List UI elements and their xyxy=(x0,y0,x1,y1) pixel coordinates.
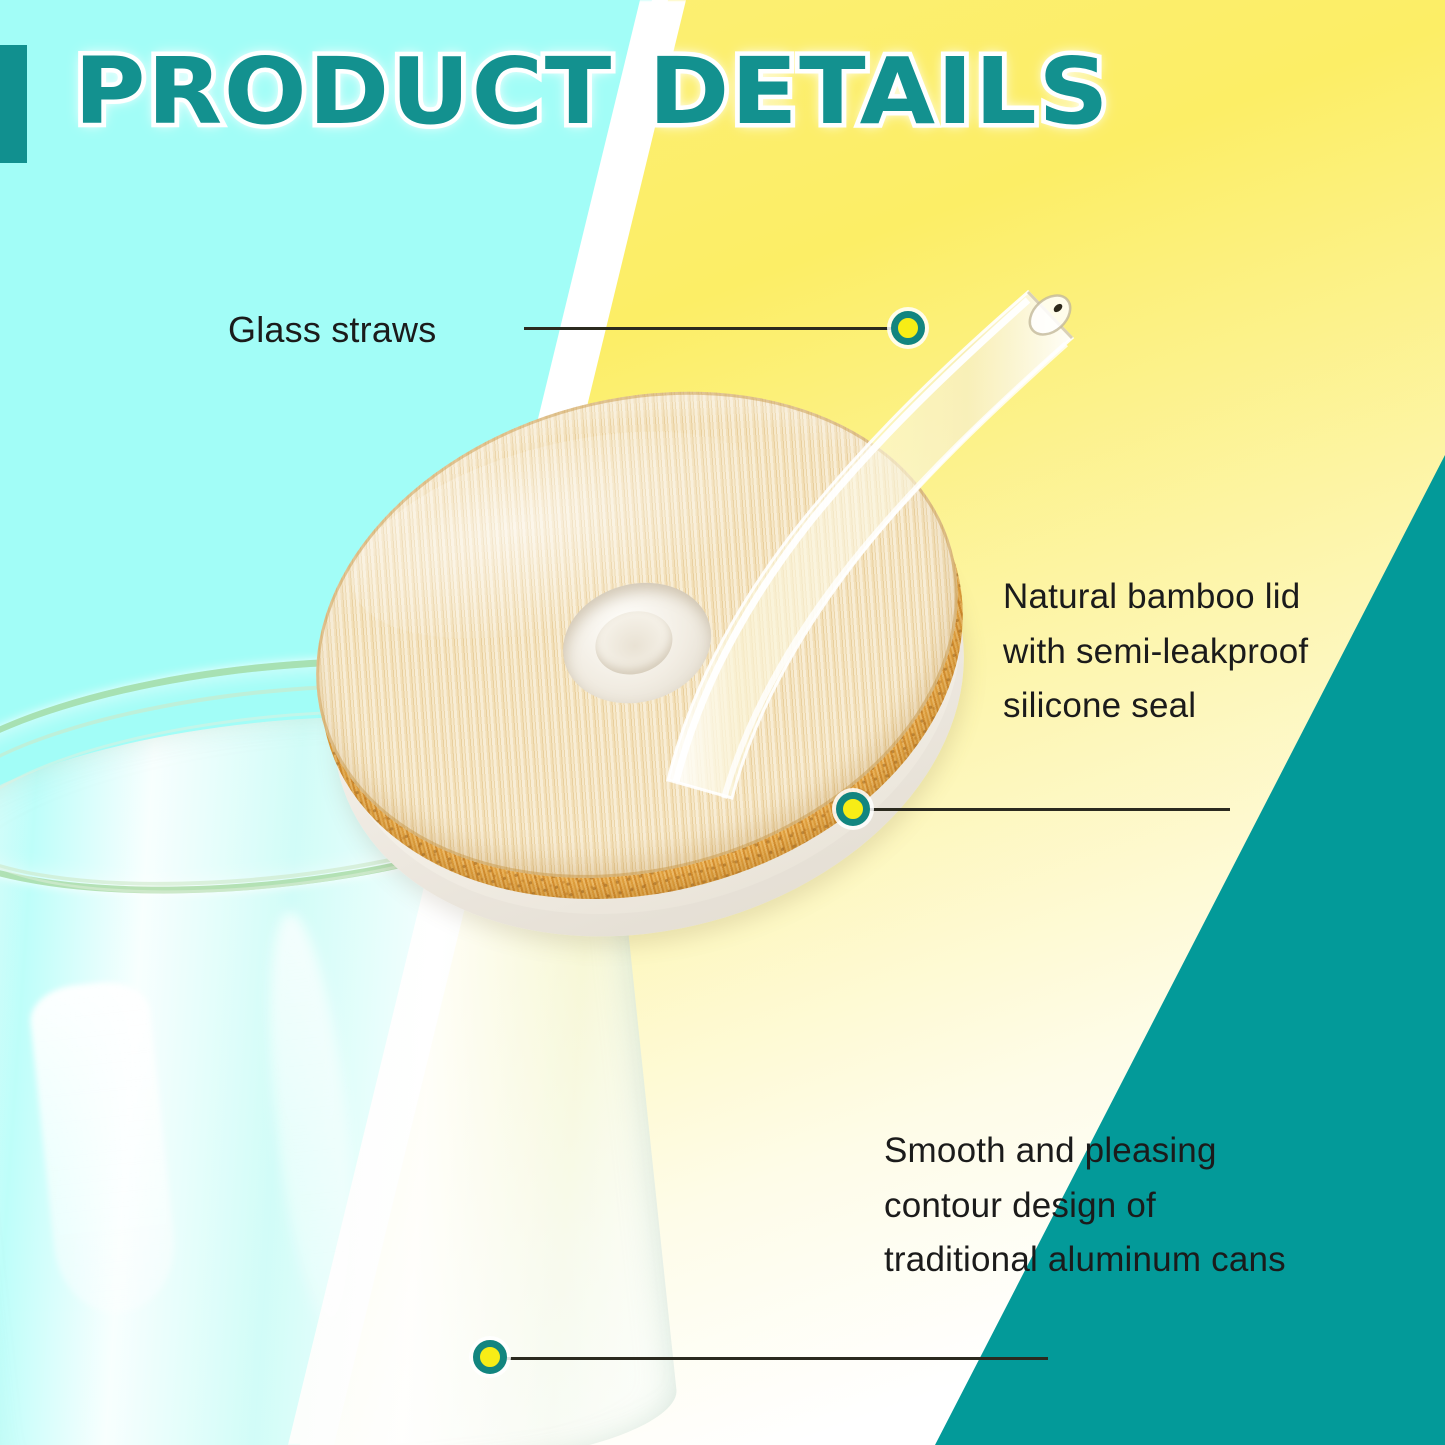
callout-label-can-contour: Smooth and pleasing contour design of tr… xyxy=(884,1124,1286,1288)
leader-line-glass-straws xyxy=(524,327,904,330)
callout-label-glass-straws: Glass straws xyxy=(228,302,436,358)
leader-line-bamboo-lid xyxy=(858,808,1230,811)
title-accent-bar xyxy=(0,45,27,163)
callout-marker-can-contour[interactable] xyxy=(473,1340,507,1374)
callout-marker-glass-straws[interactable] xyxy=(891,311,925,345)
callout-label-bamboo-lid: Natural bamboo lid with semi-leakproof s… xyxy=(1003,570,1308,734)
glass-straw xyxy=(620,220,1090,840)
product-details-infographic: PRODUCT DETAILS xyxy=(0,0,1445,1445)
page-title: PRODUCT DETAILS xyxy=(74,42,1110,141)
callout-marker-bamboo-lid[interactable] xyxy=(836,792,870,826)
leader-line-can-contour xyxy=(492,1357,1048,1360)
